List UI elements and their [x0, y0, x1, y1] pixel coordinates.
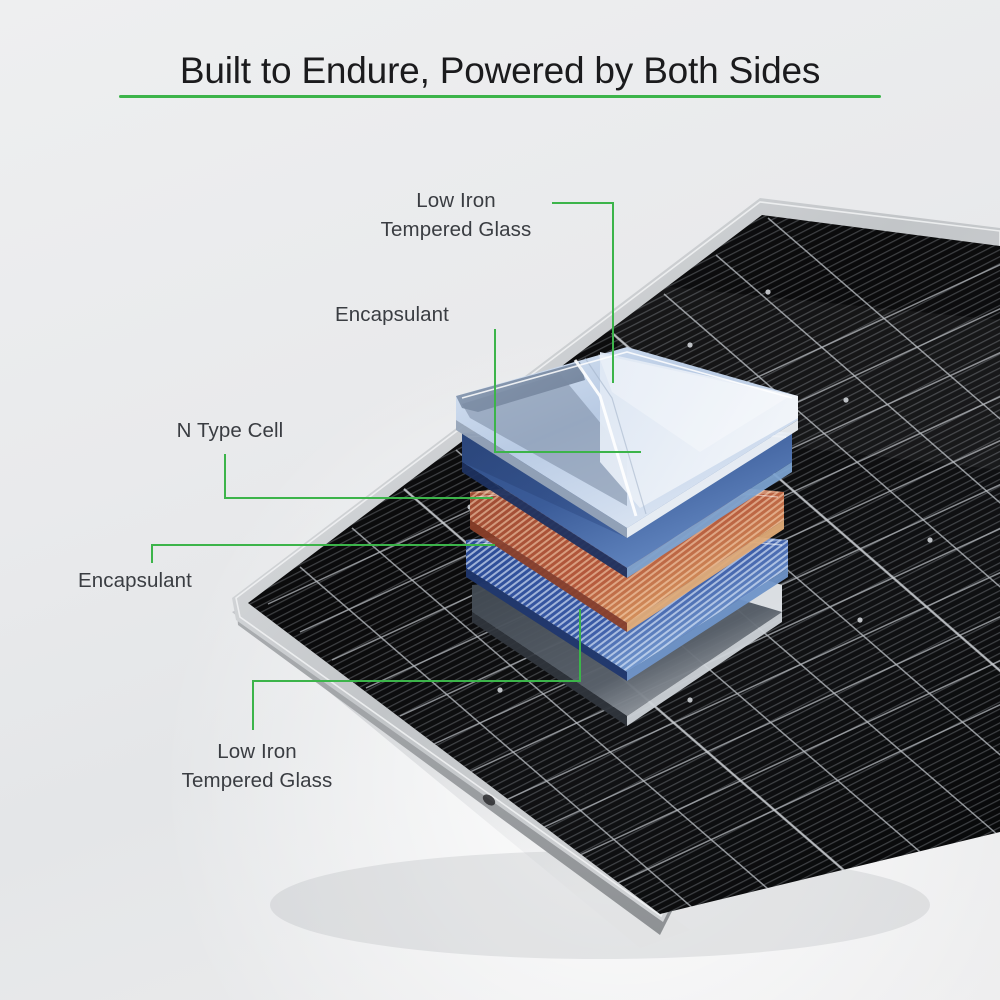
diagram-canvas: Built to Endure, Powered by Both Sides L…: [0, 0, 1000, 1000]
exploded-layer-stack: [0, 0, 1000, 1000]
